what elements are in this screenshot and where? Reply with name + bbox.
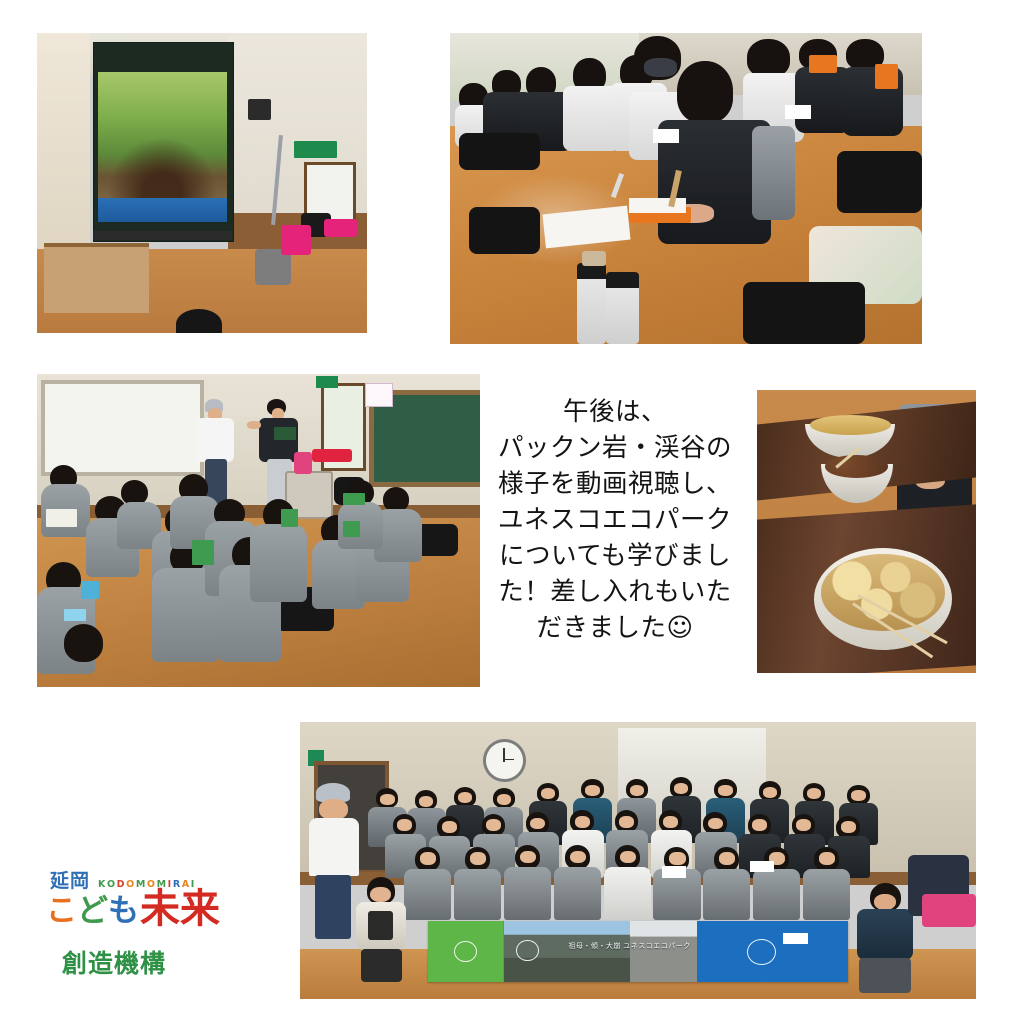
pink-bag xyxy=(281,225,311,255)
caption-line: 様子を動画視聴し、 xyxy=(498,466,732,502)
green-booklet xyxy=(343,521,361,537)
logo-org-name: 創造機構 xyxy=(62,944,166,980)
student-face xyxy=(719,852,735,865)
silhouette-head xyxy=(176,309,222,333)
mountain-photo-2 xyxy=(630,921,697,982)
black-drawstring-bag xyxy=(469,207,540,254)
presenter-jacket xyxy=(259,418,299,462)
student-face xyxy=(470,852,486,865)
student-body xyxy=(554,867,601,920)
green-booklet xyxy=(192,540,214,565)
student-body xyxy=(753,869,800,920)
logo-romaji-letter: K xyxy=(98,879,107,890)
green-booklet xyxy=(343,493,365,506)
photo-group-photo-with-banner: 祖母・傾・大崩 ユネスコエコパーク xyxy=(300,722,976,999)
logo-mirai: 未来 xyxy=(140,891,220,927)
student-face xyxy=(486,819,501,831)
banner-text: 祖母・傾・大崩 ユネスコエコパーク xyxy=(512,941,747,951)
student-face xyxy=(763,787,777,798)
student-face xyxy=(674,783,688,794)
photo-lecture-presentation xyxy=(37,374,480,687)
logo-kana-do: ど xyxy=(77,896,108,927)
seated-woman-left xyxy=(354,877,408,982)
student-face xyxy=(442,821,457,833)
student-face xyxy=(663,816,678,828)
bottle-cap xyxy=(606,272,639,288)
student-body xyxy=(250,524,308,602)
black-bag xyxy=(743,282,866,344)
student-face xyxy=(708,818,723,830)
logo-city-name: 延岡 xyxy=(50,866,90,893)
white-shirt xyxy=(309,818,359,876)
student-face xyxy=(669,852,685,865)
logo-romaji-letter: O xyxy=(107,879,117,890)
caption-line: た！差し入れもいた xyxy=(498,574,732,610)
privacy-block xyxy=(783,933,807,945)
student-face xyxy=(718,785,732,796)
seated-man-right xyxy=(854,883,915,994)
whiteboard xyxy=(41,380,204,476)
screen-bottom-bar xyxy=(93,231,232,240)
student-body xyxy=(604,867,651,920)
caption-line: ユネスコエコパーク xyxy=(498,502,732,538)
coach-standing xyxy=(307,783,361,944)
tshirt-print xyxy=(368,911,393,940)
ecopark-seal-left-icon xyxy=(454,941,477,963)
cup xyxy=(582,251,606,267)
face xyxy=(370,887,391,903)
student-head xyxy=(747,39,789,76)
student-face xyxy=(630,785,644,796)
photo-refreshments-table xyxy=(757,390,976,673)
student-face xyxy=(575,816,590,828)
fried-sweet-potato xyxy=(821,554,946,630)
blue-booklet xyxy=(64,609,86,622)
student-face xyxy=(619,816,634,828)
student-face xyxy=(620,851,636,864)
student-face xyxy=(851,790,865,801)
orange-notebook xyxy=(809,55,837,74)
collage-canvas: 祖母・傾・大崩 ユネスコエコパーク 午後は、 パックン岩・渓谷の 様子を動画視聴… xyxy=(0,0,1024,1024)
student-head xyxy=(64,624,104,662)
blue-booklet xyxy=(81,581,99,600)
caption-line: パックン岩・渓谷の xyxy=(498,430,732,466)
exit-sign-icon xyxy=(294,141,337,158)
caption-line: についても学びまし xyxy=(499,538,731,574)
black-backpack xyxy=(459,133,539,170)
student-face xyxy=(380,794,394,805)
face-mask xyxy=(644,58,677,77)
student-body xyxy=(803,869,850,920)
privacy-block xyxy=(653,129,679,143)
legs xyxy=(361,949,402,983)
photo-students-taking-notes xyxy=(450,33,922,344)
student-face xyxy=(841,821,856,833)
student-body xyxy=(454,869,501,920)
logo-romaji-letter: D xyxy=(117,879,127,890)
wall-clock-icon xyxy=(483,739,526,782)
exit-sign-icon xyxy=(316,376,338,389)
pink-bag xyxy=(294,452,312,474)
logo-main-row: こ ど も 未来 xyxy=(46,891,220,927)
video-progress-bar xyxy=(106,210,145,218)
ecopark-banner: 祖母・傾・大崩 ユネスコエコパーク xyxy=(428,921,847,982)
student-body xyxy=(703,869,750,920)
face xyxy=(874,894,896,911)
student-face xyxy=(419,796,433,807)
red-tablecloth xyxy=(312,449,352,462)
projected-video-image xyxy=(98,72,227,222)
handout-paper xyxy=(46,509,77,528)
wooden-desk xyxy=(44,243,150,313)
privacy-block xyxy=(662,866,686,878)
student-face xyxy=(585,785,599,796)
wall-poster xyxy=(365,383,394,407)
student-face xyxy=(458,792,472,803)
student-body xyxy=(404,869,451,920)
caption-line: だきました☺ xyxy=(536,610,693,646)
presenter-hand xyxy=(247,421,260,429)
student-face xyxy=(420,852,436,865)
pink-jacket-pile xyxy=(922,894,976,927)
water-bottle xyxy=(577,269,605,344)
student-face xyxy=(819,852,835,865)
handout-booklet xyxy=(274,427,296,440)
pants xyxy=(315,875,351,939)
green-booklet xyxy=(281,509,299,528)
orange-notebook xyxy=(875,64,899,89)
pink-jacket xyxy=(324,219,357,237)
worksheet xyxy=(629,198,686,214)
student-face xyxy=(570,851,586,864)
jacket xyxy=(857,909,913,960)
student-face xyxy=(497,794,511,805)
ecopark-seal-right-icon xyxy=(747,939,776,965)
organization-logo: 延岡 KODOMOMIRAI こ ど も 未来 創造機構 xyxy=(40,866,220,988)
student-face xyxy=(520,851,536,864)
black-backpack xyxy=(837,151,922,213)
student-body xyxy=(504,867,551,920)
face xyxy=(319,799,348,820)
logo-kana-mo: も xyxy=(108,896,139,927)
caption-line: 午後は、 xyxy=(563,394,667,430)
caption-text-block: 午後は、 パックン岩・渓谷の 様子を動画視聴し、 ユネスコエコパーク についても… xyxy=(480,375,750,665)
speaker-icon xyxy=(248,99,271,120)
student-face xyxy=(752,819,767,831)
student-sleeve xyxy=(752,126,794,219)
student-head xyxy=(383,487,410,512)
legs xyxy=(859,958,911,993)
logo-romaji-letter: O xyxy=(126,879,136,890)
privacy-block xyxy=(750,861,774,873)
thermos-bottle xyxy=(606,279,639,344)
logo-kana-ko: こ xyxy=(46,896,77,927)
presenter-shirt xyxy=(196,418,234,462)
student-head xyxy=(677,61,734,123)
privacy-block xyxy=(785,105,811,119)
photo-projector-screen-classroom xyxy=(37,33,367,333)
